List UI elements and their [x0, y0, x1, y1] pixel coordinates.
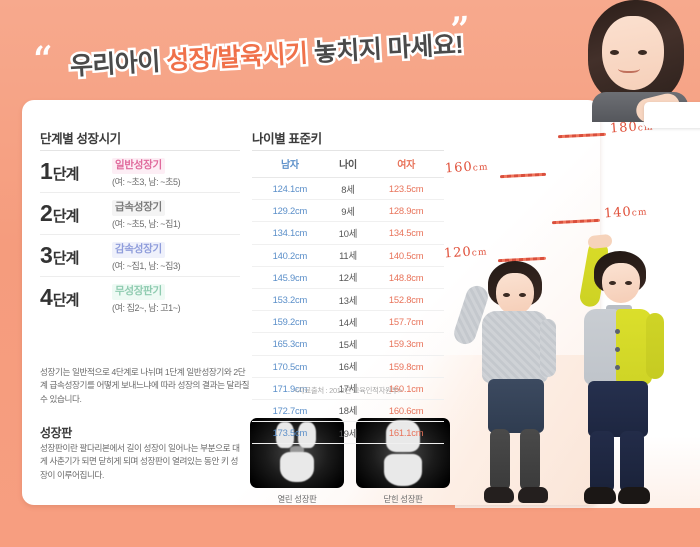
quote-close-icon: ” [450, 12, 471, 47]
cell-female: 160.6cm [368, 399, 444, 421]
stage-number-value: 4 [40, 286, 52, 309]
woman-smile [618, 62, 640, 73]
table-row: 145.9cm12세148.8cm [252, 266, 444, 288]
stage-row: 1단계일반성장기(여: ~초3, 남: ~초5) [40, 150, 240, 192]
table-row: 153.2cm13세152.8cm [252, 288, 444, 310]
table-row: 172.7cm18세160.6cm [252, 399, 444, 421]
stage-info: 무성장판기(여: 집2~, 남: 고1~) [108, 281, 240, 313]
height-mark-160: 160cm [445, 159, 489, 177]
stages-section-title: 단계별 성장시기 [40, 128, 121, 147]
cell-male: 140.2cm [252, 244, 328, 266]
growth-plate-text: 성장판이란 팔다리본에서 길이 성장이 일어나는 부분으로 대게 사춘기가 되면… [40, 442, 245, 482]
stage-row: 4단계무성장판기(여: 집2~, 남: 고1~) [40, 276, 240, 318]
stage-sub: (여: ~초5, 남: ~집1) [112, 217, 240, 230]
cell-age: 15세 [328, 333, 368, 355]
growth-plate-title: 성장판 [40, 424, 72, 441]
headline-part2: 놓치지 마세요! [307, 31, 464, 68]
stage-info: 급속성장기(여: ~초5, 남: ~집1) [108, 197, 240, 229]
cell-age: 14세 [328, 311, 368, 333]
cell-age: 10세 [328, 222, 368, 244]
cell-male: 153.2cm [252, 288, 328, 310]
infographic-root: “ 우리아이 성장/발육시기 놓치지 마세요! ” 단계별 성장시기 1단계일반… [0, 0, 700, 547]
girl-figure [470, 261, 565, 509]
table-header-female: 여자 [368, 151, 444, 178]
cell-age: 12세 [328, 266, 368, 288]
height-table-wrap: 남자 나이 여자 124.1cm8세123.5cm129.2cm9세128.9c… [252, 150, 444, 444]
cell-female: 123.5cm [368, 178, 444, 200]
stage-number: 1단계 [40, 160, 108, 183]
cell-age: 11세 [328, 244, 368, 266]
table-row: 124.1cm8세123.5cm [252, 178, 444, 200]
stage-sub: (여: ~초3, 남: ~초5) [112, 175, 240, 188]
table-header-age: 나이 [328, 151, 368, 178]
cell-age: 8세 [328, 178, 368, 200]
stage-info: 감속성장기(여: ~집1, 남: ~집3) [108, 239, 240, 271]
height-table: 남자 나이 여자 124.1cm8세123.5cm129.2cm9세128.9c… [252, 150, 444, 444]
table-row: 165.3cm15세159.3cm [252, 333, 444, 355]
stage-row: 3단계감속성장기(여: ~집1, 남: ~집3) [40, 234, 240, 276]
children-photo [470, 243, 700, 508]
table-header-male: 남자 [252, 151, 328, 178]
stage-number: 2단계 [40, 202, 108, 225]
stage-name: 일반성장기 [112, 158, 165, 173]
headline-part1: 우리아이 [69, 47, 167, 80]
table-row: 173.5cm19세161.1cm [252, 422, 444, 444]
cell-male: 172.7cm [252, 399, 328, 421]
stage-name: 감속성장기 [112, 242, 165, 257]
stages-list: 1단계일반성장기(여: ~초3, 남: ~초5)2단계급속성장기(여: ~초5,… [40, 150, 240, 318]
cell-male: 124.1cm [252, 178, 328, 200]
boy-figure [558, 243, 668, 511]
cell-female: 134.5cm [368, 222, 444, 244]
cell-female: 161.1cm [368, 422, 444, 444]
cell-female: 148.8cm [368, 266, 444, 288]
stage-sub: (여: ~집1, 남: ~집3) [112, 259, 240, 272]
stage-number: 3단계 [40, 244, 108, 267]
stage-info: 일반성장기(여: ~초3, 남: ~초5) [108, 155, 240, 187]
cell-female: 157.7cm [368, 311, 444, 333]
stage-number-unit: 단계 [53, 167, 79, 182]
woman-photo [582, 0, 700, 118]
stage-number-value: 2 [40, 202, 52, 225]
cell-male: 170.5cm [252, 355, 328, 377]
cell-female: 159.3cm [368, 333, 444, 355]
cell-male: 134.1cm [252, 222, 328, 244]
stage-number: 4단계 [40, 286, 108, 309]
cell-male: 145.9cm [252, 266, 328, 288]
woman-board [644, 102, 700, 128]
stage-number-value: 3 [40, 244, 52, 267]
cell-age: 19세 [328, 422, 368, 444]
stage-sub: (여: 집2~, 남: 고1~) [112, 301, 240, 314]
cell-male: 165.3cm [252, 333, 328, 355]
cell-male: 159.2cm [252, 311, 328, 333]
table-header-row: 남자 나이 여자 [252, 151, 444, 178]
stage-name: 무성장판기 [112, 284, 165, 299]
stage-row: 2단계급속성장기(여: ~초5, 남: ~집1) [40, 192, 240, 234]
cell-female: 140.5cm [368, 244, 444, 266]
cell-female: 152.8cm [368, 288, 444, 310]
stage-name: 급속성장기 [112, 200, 165, 215]
table-row: 159.2cm14세157.7cm [252, 311, 444, 333]
cell-male: 129.2cm [252, 200, 328, 222]
cell-age: 9세 [328, 200, 368, 222]
table-row: 170.5cm16세159.8cm [252, 355, 444, 377]
table-row: 129.2cm9세128.9cm [252, 200, 444, 222]
headline-accent: 성장/발육시기 [166, 40, 309, 76]
table-section-title: 나이별 표준키 [252, 128, 322, 147]
cell-female: 159.8cm [368, 355, 444, 377]
cell-female: 128.9cm [368, 200, 444, 222]
stage-number-unit: 단계 [53, 209, 79, 224]
cell-age: 16세 [328, 355, 368, 377]
quote-open-icon: “ [33, 42, 54, 77]
cell-age: 13세 [328, 288, 368, 310]
table-row: 140.2cm11세140.5cm [252, 244, 444, 266]
stage-number-unit: 단계 [53, 293, 79, 308]
table-source-note: <자료출처 : 2012년 교육인적자원부> [252, 385, 444, 396]
table-row: 134.1cm10세134.5cm [252, 222, 444, 244]
stage-number-value: 1 [40, 160, 52, 183]
cell-male: 173.5cm [252, 422, 328, 444]
xray-open-caption: 열린 성장판 [250, 493, 344, 505]
woman-face [602, 16, 664, 90]
xray-closed-caption: 닫힌 성장판 [356, 493, 450, 505]
stage-number-unit: 단계 [53, 251, 79, 266]
cell-age: 18세 [328, 399, 368, 421]
height-mark-140: 140cm [604, 204, 648, 222]
stages-lead-text: 성장기는 일반적으로 4단계로 나뉘며 1단계 일반성장기와 2단계 급속성장기… [40, 366, 250, 406]
